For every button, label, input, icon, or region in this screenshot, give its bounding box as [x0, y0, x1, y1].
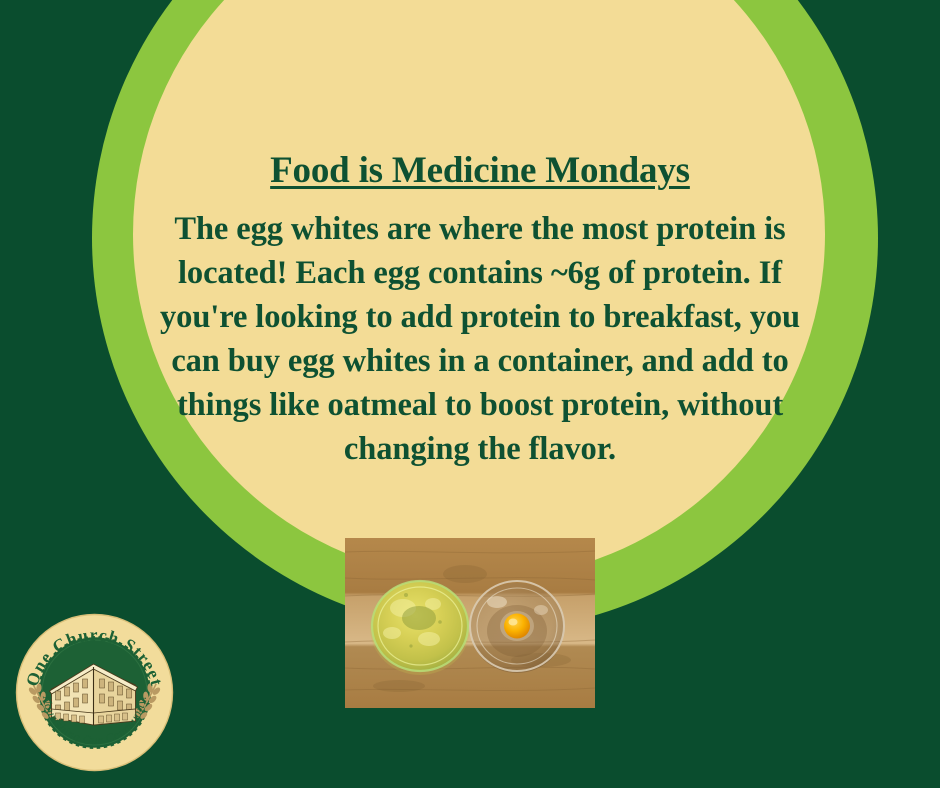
egg-bowls-photo [345, 538, 595, 708]
egg-bowls-illustration [345, 538, 595, 708]
poster-content: Food is Medicine Mondays The egg whites … [150, 150, 810, 471]
poster-canvas: Food is Medicine Mondays The egg whites … [0, 0, 940, 788]
poster-body-text: The egg whites are where the most protei… [150, 207, 810, 471]
logo-seal-graphic: One Church Street Nourishing Our Communi… [13, 611, 176, 774]
one-church-street-logo: One Church Street Nourishing Our Communi… [13, 611, 176, 774]
page-title: Food is Medicine Mondays [150, 150, 810, 193]
